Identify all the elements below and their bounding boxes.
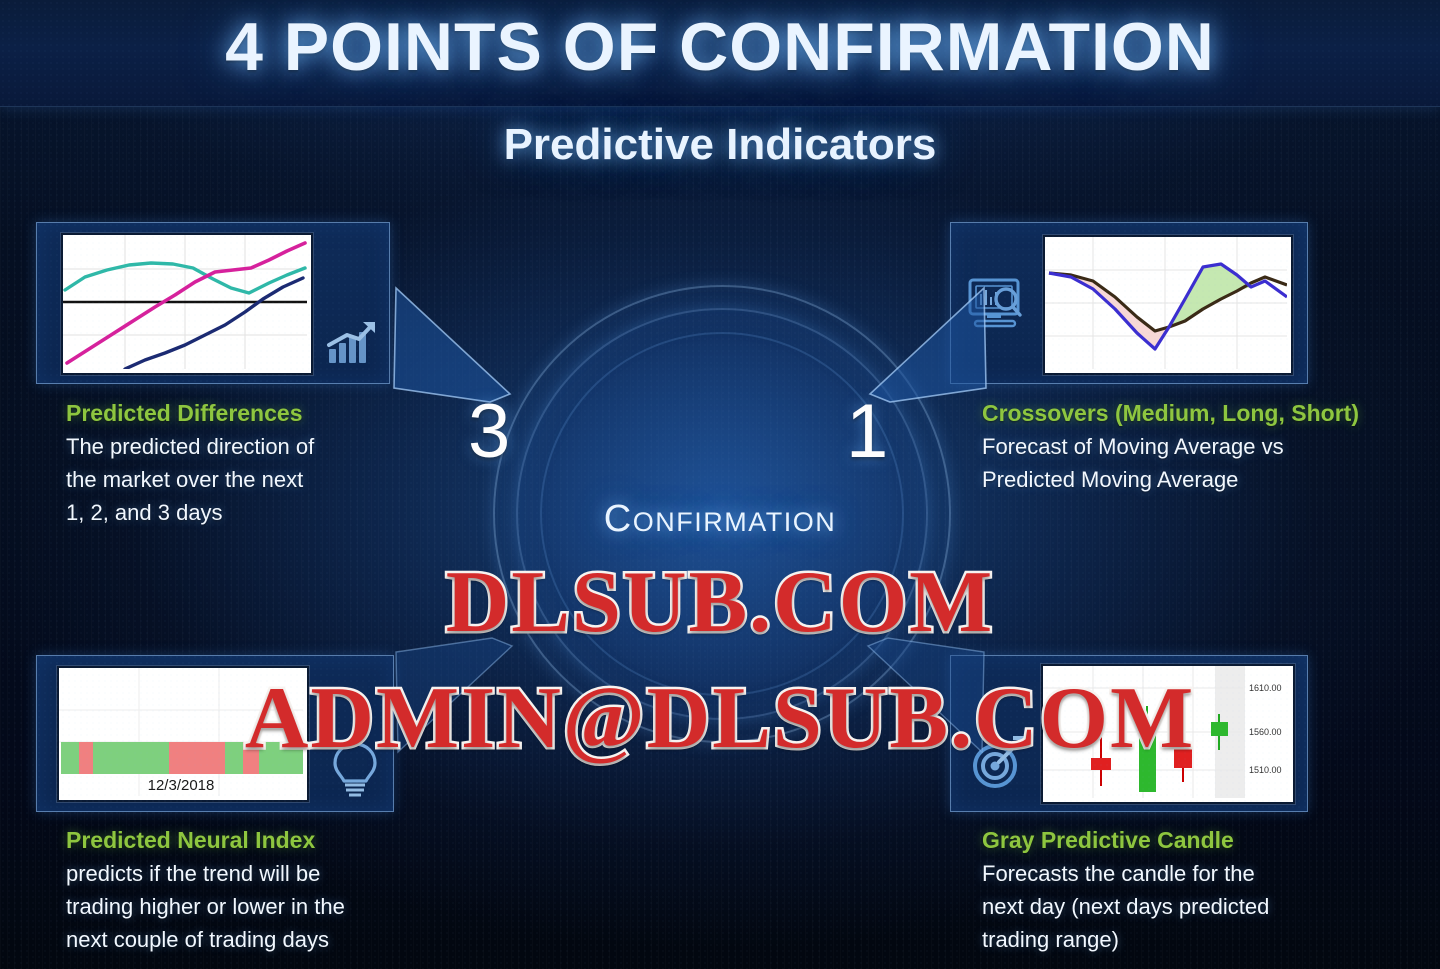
caption-body: Forecast of Moving Average vs Predicted …	[982, 430, 1402, 496]
caption-line: predicts if the trend will be	[66, 857, 446, 890]
watermark-email: ADMIN@DLSUB.COM	[0, 668, 1440, 769]
panel-predicted-differences[interactable]: Predicted Differences The predicted dire…	[36, 222, 390, 384]
center-label: Confirmation	[493, 498, 947, 541]
caption-line: Forecasts the candle for the	[982, 857, 1372, 890]
caption-line: next couple of trading days	[66, 923, 446, 956]
chart-date-label: 12/3/2018	[148, 777, 215, 794]
caption-title: Predicted Differences	[66, 400, 302, 427]
watermark-site: DLSUB.COM	[0, 552, 1440, 653]
series-navy	[125, 278, 303, 369]
caption-line: trading higher or lower in the	[66, 890, 446, 923]
fill-bullish	[1169, 264, 1251, 327]
caption-line: 1, 2, and 3 days	[66, 496, 396, 529]
caption-line: the market over the next	[66, 463, 396, 496]
caption-title: Crossovers (Medium, Long, Short)	[982, 400, 1359, 427]
page-title: 4 POINTS OF CONFIRMATION	[0, 8, 1440, 86]
chart-predicted-differences	[61, 233, 313, 375]
bar-chart-growth-icon	[325, 319, 377, 372]
caption-line: The predicted direction of	[66, 430, 396, 463]
fill-bearish	[1049, 273, 1169, 349]
caption-line: next day (next days predicted	[982, 890, 1372, 923]
caption-body: Forecasts the candle for the next day (n…	[982, 857, 1372, 956]
step-number-3: 3	[468, 394, 510, 470]
slide-canvas: 4 POINTS OF CONFIRMATION Predictive Indi…	[0, 0, 1440, 969]
caption-title: Gray Predictive Candle	[982, 827, 1234, 854]
panel-screen	[36, 222, 390, 384]
caption-line: Forecast of Moving Average vs	[982, 430, 1402, 463]
chart-gridlines	[1045, 237, 1287, 369]
chart-svg	[1045, 237, 1287, 369]
chart-svg	[63, 235, 307, 369]
caption-body: The predicted direction of the market ov…	[66, 430, 396, 529]
caption-line: Predicted Moving Average	[982, 463, 1402, 496]
page-subtitle: Predictive Indicators	[0, 120, 1440, 170]
chart-crossovers	[1043, 235, 1293, 375]
caption-line: trading range)	[982, 923, 1372, 956]
step-number-1: 1	[846, 394, 888, 470]
caption-title: Predicted Neural Index	[66, 827, 315, 854]
caption-body: predicts if the trend will be trading hi…	[66, 857, 446, 956]
